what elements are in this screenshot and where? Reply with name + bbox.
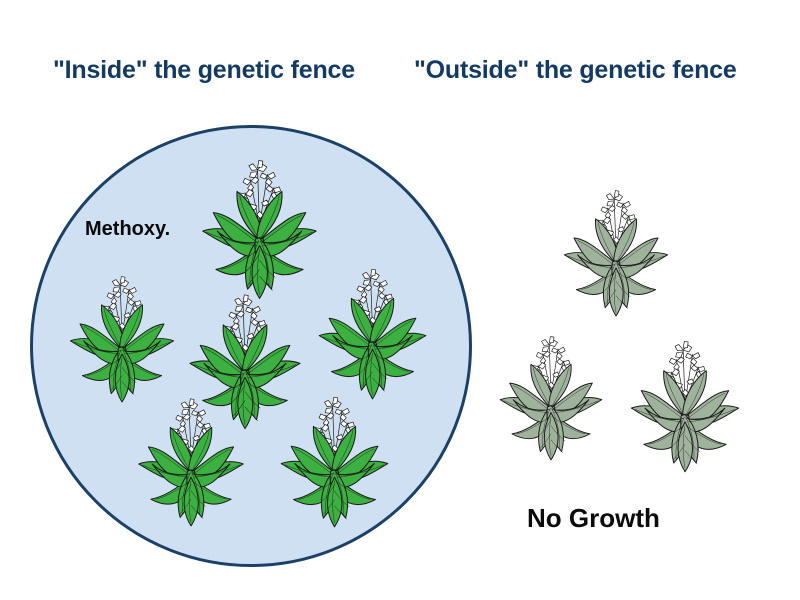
slide-canvas: "Inside" the genetic fence "Outside" the…	[0, 0, 800, 600]
tobacco-plant-icon	[130, 380, 252, 532]
tobacco-plant-icon	[556, 172, 676, 322]
heading-inside-genetic-fence: "Inside" the genetic fence	[53, 56, 355, 85]
plant-inside-5	[130, 380, 252, 532]
plant-outside-2	[492, 318, 610, 466]
methoxy-label: Methoxy.	[85, 218, 170, 241]
tobacco-plant-icon	[622, 322, 748, 478]
plant-inside-6	[272, 378, 397, 533]
tobacco-plant-icon	[492, 318, 610, 466]
no-growth-label: No Growth	[527, 503, 660, 534]
tobacco-plant-icon	[272, 378, 397, 533]
plant-outside-3	[622, 322, 748, 478]
heading-outside-genetic-fence: "Outside" the genetic fence	[414, 56, 737, 85]
plant-outside-1	[556, 172, 676, 322]
